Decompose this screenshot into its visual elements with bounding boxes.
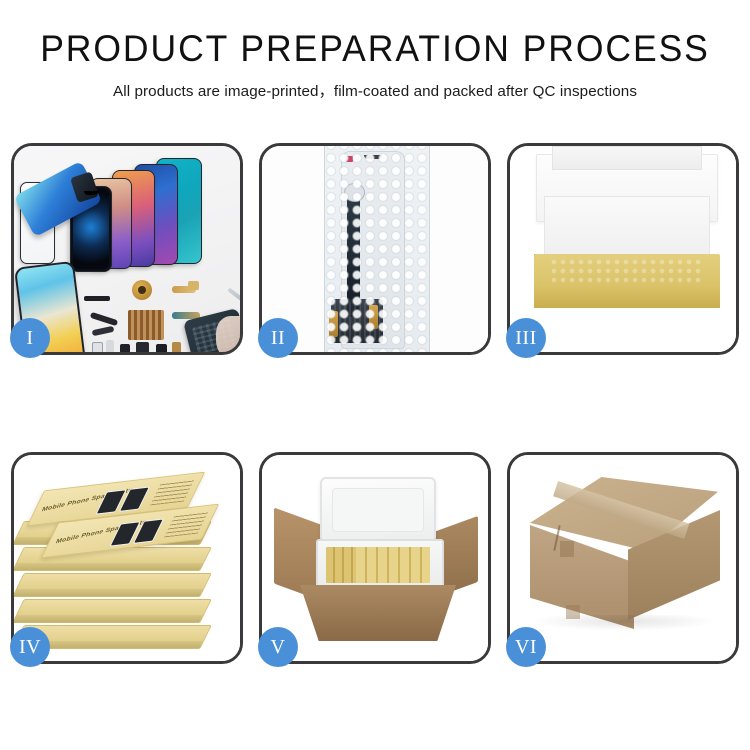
stacked-box-3 [14, 573, 212, 597]
part-vibration-motor [132, 280, 152, 300]
white-foam-sheet [544, 196, 710, 260]
step-badge-3: III [506, 318, 546, 358]
carton-body [300, 585, 456, 641]
part-chip-array [128, 310, 164, 340]
product-preparation-infographic: PRODUCT PREPARATION PROCESS All products… [0, 0, 750, 750]
part-ribbon-cable [106, 340, 114, 352]
box-lid-spec-lines-front [164, 512, 209, 538]
step-badge-5: V [258, 627, 298, 667]
stacked-box-2 [14, 599, 212, 623]
connector-row [331, 299, 383, 343]
step-badge-4: IV [10, 627, 50, 667]
step-badge-2: II [258, 318, 298, 358]
step-image-3 [510, 146, 736, 352]
step-image-4: Mobile Phone Spare Parts Mobile Phone Sp… [14, 455, 240, 661]
step-image-2 [262, 146, 488, 352]
step-badge-1: I [10, 318, 50, 358]
qc-red-sticker [346, 156, 353, 162]
carton-handle-tab-top [560, 541, 574, 557]
box-lid-tab [552, 146, 702, 170]
carton-shadow [532, 615, 718, 631]
page-subtitle: All products are image-printed，film-coat… [0, 79, 750, 101]
part-flex-cable-1 [90, 312, 118, 326]
step-panel-1[interactable]: I [11, 143, 243, 355]
box-lid-spec-lines-rear [150, 480, 195, 506]
foam-box-lid [320, 477, 436, 543]
page-title: PRODUCT PREPARATION PROCESS [15, 30, 735, 67]
header: PRODUCT PREPARATION PROCESS All products… [0, 0, 750, 101]
gold-pad-left [329, 311, 338, 337]
bubble-wrap-bag [324, 146, 430, 352]
step-image-1 [14, 146, 240, 352]
part-ic-chip-4 [172, 342, 181, 352]
screen-notch [364, 155, 382, 159]
packed-screen-assembly [341, 151, 405, 349]
step-panel-3[interactable]: III [507, 143, 739, 355]
gold-contact-tab [347, 185, 360, 197]
step-panel-5[interactable]: V [259, 452, 491, 664]
part-connector-gold [188, 281, 199, 290]
part-ic-chip-3 [156, 344, 167, 352]
yellow-boxes-inside [326, 547, 430, 583]
step-image-5 [262, 455, 488, 661]
spare-parts-group [76, 272, 240, 352]
part-ic-chip-2 [136, 342, 149, 352]
step-panel-6[interactable]: VI [507, 452, 739, 664]
kraft-tray-front [534, 284, 720, 308]
step-panel-2[interactable]: II [259, 143, 491, 355]
step-badge-6: VI [506, 627, 546, 667]
hand-illustration [216, 316, 240, 352]
part-sim-tray [92, 342, 103, 352]
steps-grid: I II [11, 143, 739, 664]
gold-pad-right [369, 305, 378, 329]
step-panel-4[interactable]: Mobile Phone Spare Parts Mobile Phone Sp… [11, 452, 243, 664]
part-speaker-bar [84, 296, 110, 301]
part-ic-chip-1 [120, 344, 130, 352]
screen-flex-strip [347, 197, 360, 317]
step-image-6 [510, 455, 736, 661]
box-stack: Mobile Phone Spare Parts Mobile Phone Sp… [14, 473, 240, 661]
part-flex-cable-2 [92, 326, 115, 336]
